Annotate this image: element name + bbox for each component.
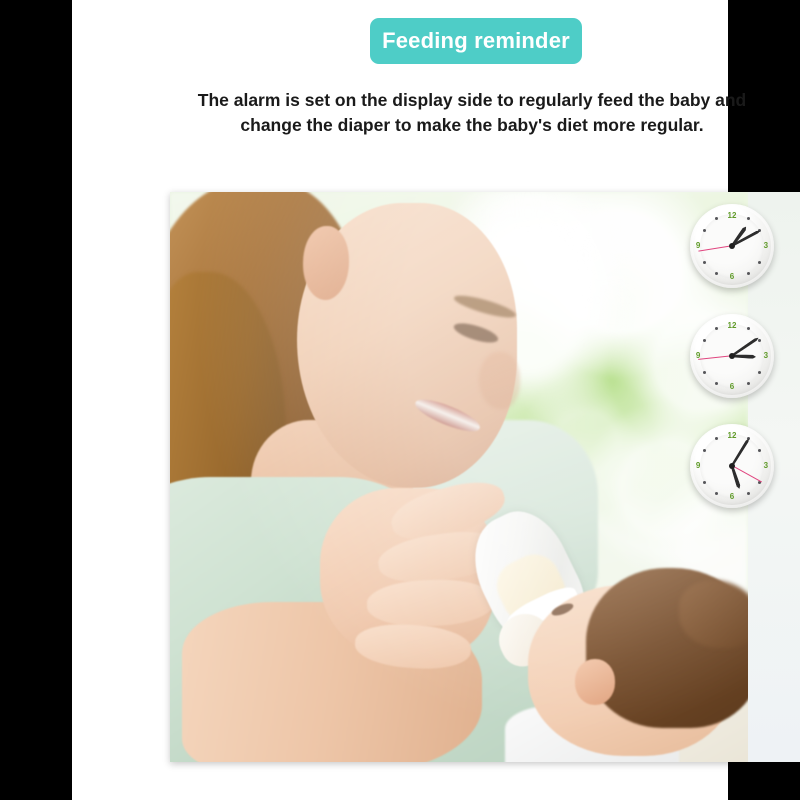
clock-hour-marker — [747, 382, 750, 385]
clock-hour-marker — [715, 272, 718, 275]
content-panel: Feeding reminder The alarm is set on the… — [72, 0, 728, 800]
clock-center-pin — [729, 243, 735, 249]
clock-numeral-3: 3 — [764, 242, 768, 250]
clock-numeral-6: 6 — [730, 273, 734, 281]
clock-hour-marker — [715, 217, 718, 220]
subtitle-text: The alarm is set on the display side to … — [168, 88, 776, 138]
clock-numeral-3: 3 — [764, 352, 768, 360]
clock-numeral-6: 6 — [730, 493, 734, 501]
clock-center-pin — [729, 463, 735, 469]
clock-hour-marker — [703, 481, 706, 484]
photo-frame: 12369 12369 12369 — [170, 192, 800, 762]
clock-hour-marker — [715, 327, 718, 330]
clock-numeral-12: 12 — [728, 212, 737, 220]
clock-hour-marker — [703, 339, 706, 342]
clock-center-pin — [729, 353, 735, 359]
clock-hour-marker — [703, 449, 706, 452]
clock-hour-marker — [715, 492, 718, 495]
clock-hour-marker — [703, 371, 706, 374]
clock-hour-marker — [747, 272, 750, 275]
clock-hour-marker — [747, 217, 750, 220]
clock-hour-marker — [715, 437, 718, 440]
clock-top: 12369 — [690, 204, 774, 288]
clock-hour-marker — [758, 449, 761, 452]
page-title: Feeding reminder — [382, 28, 570, 54]
page-root: Feeding reminder The alarm is set on the… — [0, 0, 800, 800]
clock-numeral-3: 3 — [764, 462, 768, 470]
feeding-photo — [170, 192, 748, 762]
clock-bottom: 12369 — [690, 424, 774, 508]
clock-numeral-9: 9 — [696, 462, 700, 470]
clock-hour-marker — [703, 261, 706, 264]
clock-numeral-12: 12 — [728, 432, 737, 440]
clock-hour-marker — [747, 327, 750, 330]
clock-hour-marker — [747, 492, 750, 495]
clock-hour-marker — [758, 371, 761, 374]
clock-hour-marker — [758, 339, 761, 342]
clock-hour-marker — [703, 229, 706, 232]
clock-numeral-12: 12 — [728, 322, 737, 330]
baby-ear — [575, 659, 615, 705]
clock-hour-marker — [715, 382, 718, 385]
feeding-reminder-badge: Feeding reminder — [370, 18, 582, 64]
mother-nose — [479, 352, 519, 409]
clock-numeral-9: 9 — [696, 242, 700, 250]
clock-numeral-6: 6 — [730, 383, 734, 391]
clock-middle: 12369 — [690, 314, 774, 398]
clock-hour-marker — [758, 261, 761, 264]
